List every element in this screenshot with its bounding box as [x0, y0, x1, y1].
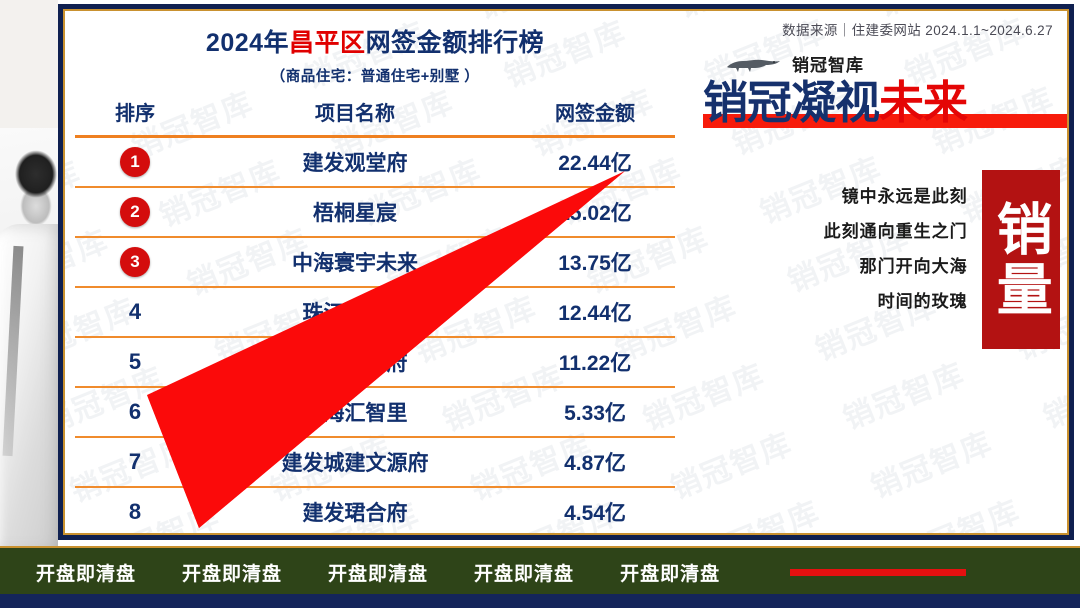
slide-canvas: 销冠智库销冠智库销冠智库销冠智库销冠智库销冠智库 销冠智库销冠智库销冠智库销冠智…	[0, 0, 1080, 608]
rank-number: 7	[129, 449, 141, 474]
slogan-primary: 销冠凝视	[703, 77, 879, 128]
table-row: 4 珠江壹千栋 12.44亿	[75, 287, 675, 337]
table-row: 7 建发城建文源府 4.87亿	[75, 437, 675, 487]
rank-badge: 2	[120, 197, 150, 227]
amount-cell: 13.75亿	[515, 237, 675, 287]
poem-line: 镜中永远是此刻	[695, 180, 968, 215]
rank-cell: 4	[75, 287, 195, 337]
rank-number: 4	[129, 299, 141, 324]
rank-cell: 2	[75, 187, 195, 237]
project-name-cell: 珠江壹千栋	[195, 287, 515, 337]
rank-number: 5	[129, 349, 141, 374]
sales-volume-box: 销量	[982, 170, 1060, 349]
ticker-item: 开盘即清盘	[36, 559, 136, 586]
amount-cell: 12.44亿	[515, 287, 675, 337]
project-name-cell: 建发观堂府	[195, 136, 515, 187]
lower-right-group: 镜中永远是此刻 此刻通向重生之门 那门开向大海 时间的玫瑰 销量 排行榜	[695, 170, 1069, 349]
content-card: 销冠智库销冠智库销冠智库销冠智库销冠智库销冠智库 销冠智库销冠智库销冠智库销冠智…	[63, 9, 1069, 535]
poem-block: 镜中永远是此刻 此刻通向重生之门 那门开向大海 时间的玫瑰	[695, 170, 982, 349]
slogan-wrap: 销冠凝视未来	[695, 79, 1069, 126]
brand-row: 销冠智库	[695, 51, 1069, 76]
rank-number: 6	[129, 399, 141, 424]
chart-subtitle: （商品住宅：普通住宅+别墅 ）	[75, 65, 675, 86]
rank-cell: 8	[75, 487, 195, 535]
project-name-cell: 中海汇智里	[195, 387, 515, 437]
rank-cell: 5	[75, 337, 195, 387]
ticker-item: 开盘即清盘	[328, 559, 428, 586]
amount-cell: 4.87亿	[515, 437, 675, 487]
table-row: 8 建发珺合府 4.54亿	[75, 487, 675, 535]
table-header-row: 排序 项目名称 网签金额	[75, 95, 675, 137]
column-header-rank: 排序	[75, 95, 195, 137]
amount-cell: 22.44亿	[515, 136, 675, 187]
chart-title-district: 昌平区	[289, 29, 366, 57]
poem-line: 时间的玫瑰	[695, 285, 968, 320]
table-row: 1 建发观堂府 22.44亿	[75, 136, 675, 187]
table-row: 3 中海寰宇未来 13.75亿	[75, 237, 675, 287]
rank-cell: 7	[75, 437, 195, 487]
chart-title: 2024年昌平区网签金额排行榜	[75, 29, 675, 58]
ranking-table: 排序 项目名称 网签金额 1 建发观堂府 22.44亿 2	[75, 95, 675, 535]
watermark-text: 销冠智库	[469, 9, 604, 27]
ticker-red-line	[790, 569, 966, 576]
rank-number: 8	[129, 499, 141, 524]
table-row: 5 北京国贤府 11.22亿	[75, 337, 675, 387]
rank-cell: 6	[75, 387, 195, 437]
branding-panel: 销冠智库 销冠凝视未来 镜中永远是此刻 此刻通向重生之门 那门开向大海 时间的玫…	[695, 51, 1069, 531]
column-header-name: 项目名称	[195, 95, 515, 137]
slogan-accent: 未来	[879, 77, 967, 128]
amount-cell: 4.54亿	[515, 487, 675, 535]
slogan: 销冠凝视未来	[703, 79, 1069, 126]
chart-title-prefix: 2024年	[206, 29, 289, 57]
data-source-note: 数据来源｜住建委网站 2024.1.1~2024.6.27	[782, 19, 1053, 39]
project-name-cell: 建发珺合府	[195, 487, 515, 535]
project-name-cell: 建发城建文源府	[195, 437, 515, 487]
portrait-photo-strip	[0, 0, 58, 608]
poem-line: 那门开向大海	[695, 250, 968, 285]
vertical-headline: 销量 排行榜	[982, 170, 1069, 349]
table-row: 6 中海汇智里 5.33亿	[75, 387, 675, 437]
amount-cell: 15.02亿	[515, 187, 675, 237]
amount-cell: 5.33亿	[515, 387, 675, 437]
bottom-ticker-bar: 开盘即清盘 开盘即清盘 开盘即清盘 开盘即清盘 开盘即清盘	[0, 546, 1080, 598]
content-card-frame: 销冠智库销冠智库销冠智库销冠智库销冠智库销冠智库 销冠智库销冠智库销冠智库销冠智…	[58, 4, 1074, 540]
project-name-cell: 北京国贤府	[195, 337, 515, 387]
man-portrait-image	[0, 128, 58, 548]
rank-badge: 1	[120, 147, 150, 177]
ticker-item: 开盘即清盘	[182, 559, 282, 586]
column-header-amount: 网签金额	[515, 95, 675, 137]
ticker-item: 开盘即清盘	[474, 559, 574, 586]
rank-badge: 3	[120, 247, 150, 277]
amount-cell: 11.22亿	[515, 337, 675, 387]
brand-name: 销冠智库	[792, 51, 864, 76]
rank-cell: 1	[75, 136, 195, 187]
crocodile-logo-icon	[725, 54, 783, 74]
project-name-cell: 中海寰宇未来	[195, 237, 515, 287]
ticker-item: 开盘即清盘	[620, 559, 720, 586]
rank-cell: 3	[75, 237, 195, 287]
ranking-label-vertical: 排行榜	[1066, 170, 1069, 349]
ticker-items: 开盘即清盘 开盘即清盘 开盘即清盘 开盘即清盘 开盘即清盘	[0, 559, 1080, 586]
table-row: 2 梧桐星宸 15.02亿	[75, 187, 675, 237]
bottom-navy-strip	[0, 594, 1080, 608]
poem-line: 此刻通向重生之门	[695, 215, 968, 250]
chart-title-suffix: 网签金额排行榜	[366, 29, 545, 57]
ranking-panel: 2024年昌平区网签金额排行榜 （商品住宅：普通住宅+别墅 ） 排序 项目名称 …	[75, 29, 675, 535]
project-name-cell: 梧桐星宸	[195, 187, 515, 237]
